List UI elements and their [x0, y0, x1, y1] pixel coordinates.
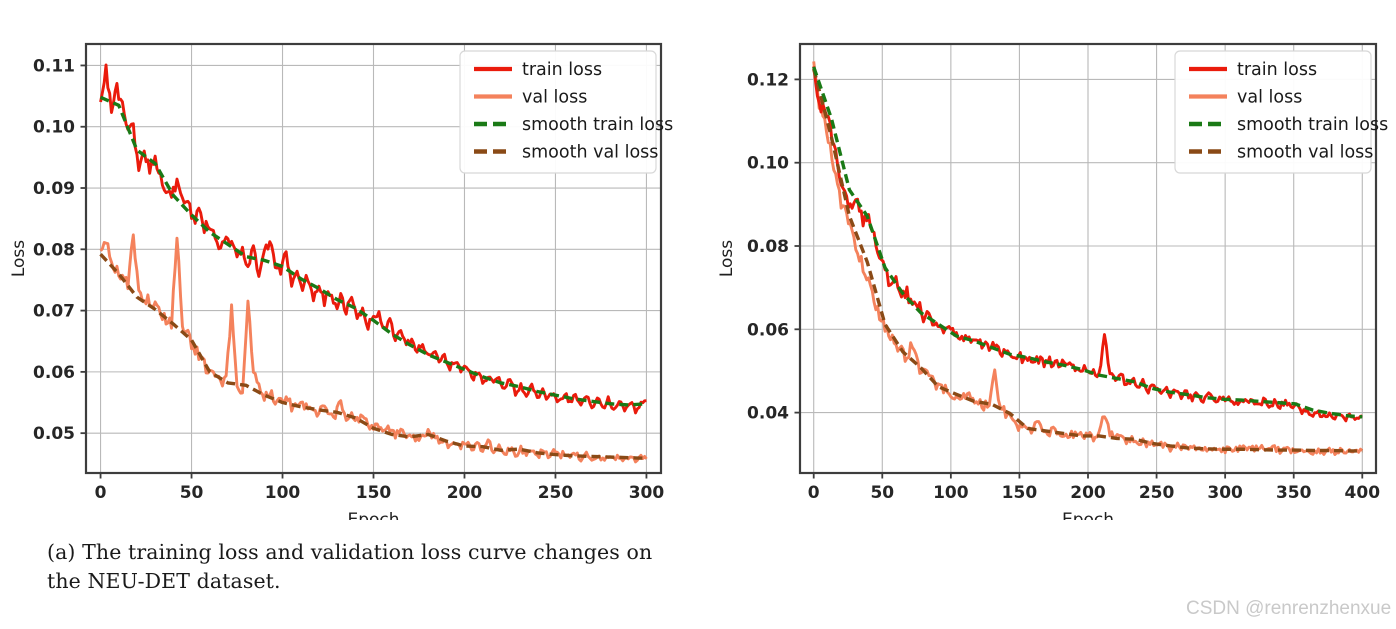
x-tick-label: 100 [933, 483, 969, 503]
x-tick-label: 150 [1002, 483, 1038, 503]
x-tick-label: 250 [538, 483, 574, 503]
chart-a-container: 0501001502002503000.050.060.070.080.090.… [0, 0, 698, 520]
x-tick-label: 150 [356, 483, 392, 503]
y-tick-label: 0.10 [747, 154, 789, 174]
x-tick-label: 0 [95, 483, 107, 503]
x-tick-label: 250 [1139, 483, 1175, 503]
y-tick-label: 0.07 [33, 302, 75, 322]
chart-a-svg: 0501001502002503000.050.060.070.080.090.… [0, 0, 698, 520]
legend-label-smooth-train-loss: smooth train loss [522, 115, 673, 135]
y-tick-label: 0.12 [747, 70, 789, 90]
y-tick-label: 0.09 [33, 179, 75, 199]
legend-label-smooth-val-loss: smooth val loss [522, 143, 658, 163]
x-tick-label: 200 [1070, 483, 1106, 503]
csdn-watermark: CSDN @renrenzhenxue [1186, 598, 1391, 620]
x-tick-label: 300 [1207, 483, 1243, 503]
y-tick-label: 0.04 [747, 404, 789, 424]
x-tick-label: 0 [808, 483, 820, 503]
x-tick-label: 50 [180, 483, 204, 503]
y-tick-label: 0.05 [33, 424, 75, 444]
x-tick-label: 400 [1345, 483, 1381, 503]
y-tick-label: 0.08 [33, 240, 75, 260]
legend-label-smooth-train-loss: smooth train loss [1237, 115, 1388, 135]
y-tick-label: 0.06 [33, 363, 75, 383]
legend-label-smooth-val-loss: smooth val loss [1237, 143, 1373, 163]
y-axis-label: Loss [717, 240, 737, 277]
x-tick-label: 300 [629, 483, 665, 503]
x-axis-label: Epoch [1062, 510, 1114, 520]
x-tick-label: 50 [870, 483, 894, 503]
legend-label-val-loss: val loss [1237, 88, 1302, 108]
x-tick-label: 100 [265, 483, 301, 503]
legend-label-train-loss: train loss [522, 60, 602, 80]
x-axis-label: Epoch [347, 510, 399, 520]
panel-a: 0501001502002503000.050.060.070.080.090.… [0, 0, 698, 629]
caption-a-line1: (a) The training loss and validation los… [47, 540, 527, 564]
legend-label-val-loss: val loss [522, 88, 587, 108]
panel-b: 0501001502002503003504000.040.060.080.10… [698, 0, 1396, 629]
y-tick-label: 0.08 [747, 237, 789, 257]
legend: train lossval losssmooth train losssmoot… [1175, 51, 1388, 173]
y-tick-label: 0.10 [33, 118, 75, 138]
chart-b-svg: 0501001502002503003504000.040.060.080.10… [698, 0, 1396, 520]
caption-a: (a) The training loss and validation los… [47, 538, 657, 596]
y-tick-label: 0.11 [33, 56, 75, 76]
y-tick-label: 0.06 [747, 320, 789, 340]
y-axis-label: Loss [9, 240, 29, 277]
legend-label-train-loss: train loss [1237, 60, 1317, 80]
x-tick-label: 200 [447, 483, 483, 503]
chart-b-container: 0501001502002503003504000.040.060.080.10… [698, 0, 1396, 520]
figure-row: 0501001502002503000.050.060.070.080.090.… [0, 0, 1396, 629]
x-tick-label: 350 [1276, 483, 1312, 503]
legend: train lossval losssmooth train losssmoot… [460, 51, 673, 173]
